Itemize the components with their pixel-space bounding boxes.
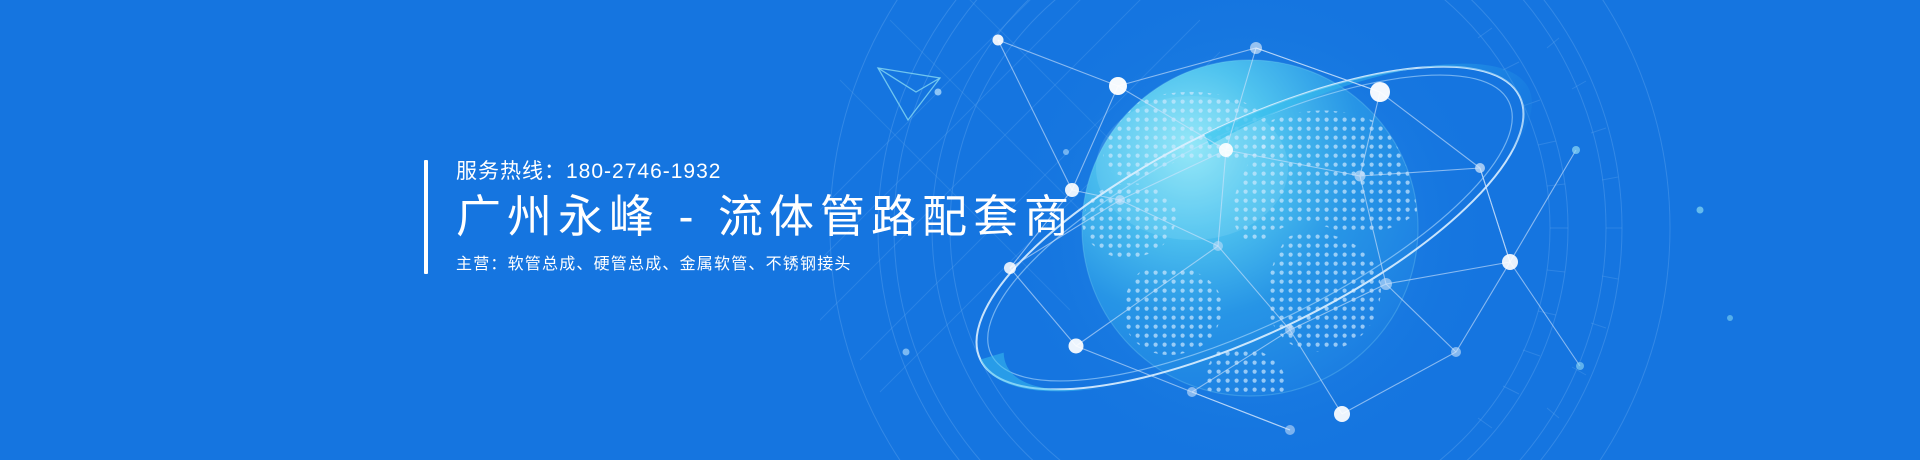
- service-hotline: 服务热线：180-2746-1932: [456, 160, 1075, 183]
- banner-text-block: 服务热线：180-2746-1932 广州永峰 - 流体管路配套商 主营：软管总…: [424, 160, 1075, 274]
- product-subtitle: 主营：软管总成、硬管总成、金属软管、不锈钢接头: [456, 255, 1075, 274]
- accent-bar: [424, 160, 428, 274]
- triangle-marker-icon: [878, 68, 940, 120]
- banner-text-lines: 服务热线：180-2746-1932 广州永峰 - 流体管路配套商 主营：软管总…: [456, 160, 1075, 274]
- page-title: 广州永峰 - 流体管路配套商: [456, 191, 1075, 243]
- hero-banner: 服务热线：180-2746-1932 广州永峰 - 流体管路配套商 主营：软管总…: [0, 0, 1920, 460]
